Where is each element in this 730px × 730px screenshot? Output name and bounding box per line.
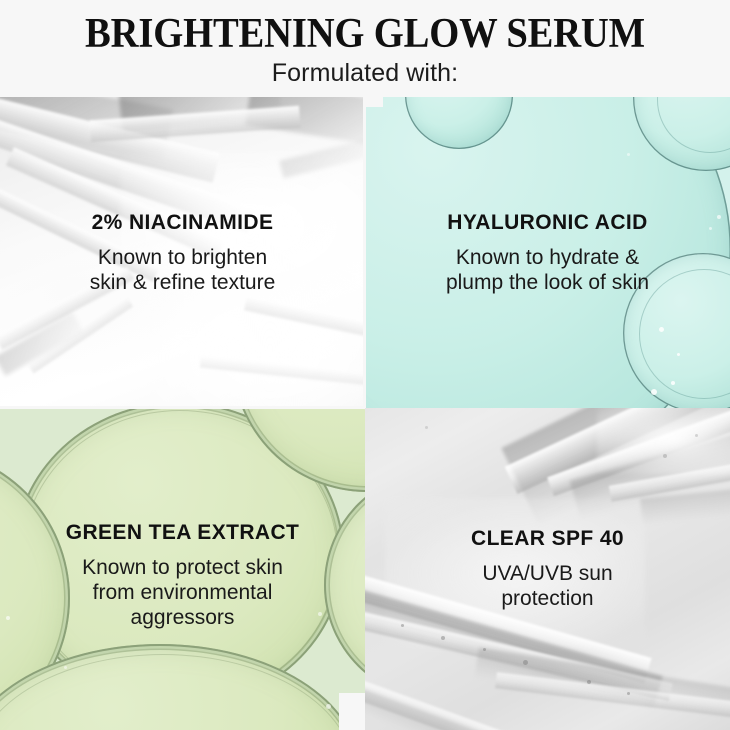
green-tea-text-block: GREEN TEA EXTRACT Known to protect skin … bbox=[0, 520, 365, 630]
ingredient-tile-niacinamide[interactable]: 2% NIACINAMIDE Known to brighten skin & … bbox=[0, 97, 365, 408]
niacinamide-heading: 2% NIACINAMIDE bbox=[8, 210, 357, 236]
hyaluronic-acid-heading: HYALURONIC ACID bbox=[373, 210, 722, 236]
ingredient-tile-clear-spf[interactable]: CLEAR SPF 40 UVA/UVB sun protection bbox=[365, 408, 730, 730]
ingredient-tile-green-tea-extract[interactable]: GREEN TEA EXTRACT Known to protect skin … bbox=[0, 408, 365, 730]
grid-seam-bottom-left bbox=[339, 693, 365, 730]
niacinamide-text-block: 2% NIACINAMIDE Known to brighten skin & … bbox=[0, 210, 365, 295]
ingredient-tile-hyaluronic-acid[interactable]: HYALURONIC ACID Known to hydrate & plump… bbox=[365, 97, 730, 408]
page-title: BRIGHTENING GLOW SERUM bbox=[29, 11, 701, 57]
clear-spf-heading: CLEAR SPF 40 bbox=[373, 526, 722, 552]
product-ingredient-infographic: BRIGHTENING GLOW SERUM Formulated with: bbox=[0, 0, 730, 730]
green-tea-description: Known to protect skin from environmental… bbox=[8, 555, 357, 630]
green-tea-heading: GREEN TEA EXTRACT bbox=[8, 520, 357, 546]
clear-spf-description: UVA/UVB sun protection bbox=[373, 561, 722, 611]
hyaluronic-acid-description: Known to hydrate & plump the look of ski… bbox=[373, 245, 722, 295]
clear-spf-text-block: CLEAR SPF 40 UVA/UVB sun protection bbox=[365, 526, 730, 611]
ingredient-grid: 2% NIACINAMIDE Known to brighten skin & … bbox=[0, 97, 730, 730]
header: BRIGHTENING GLOW SERUM Formulated with: bbox=[0, 0, 730, 97]
niacinamide-description: Known to brighten skin & refine texture bbox=[8, 245, 357, 295]
grid-seam-horizontal bbox=[0, 406, 365, 409]
page-subtitle: Formulated with: bbox=[0, 58, 730, 88]
hyaluronic-acid-text-block: HYALURONIC ACID Known to hydrate & plump… bbox=[365, 210, 730, 295]
